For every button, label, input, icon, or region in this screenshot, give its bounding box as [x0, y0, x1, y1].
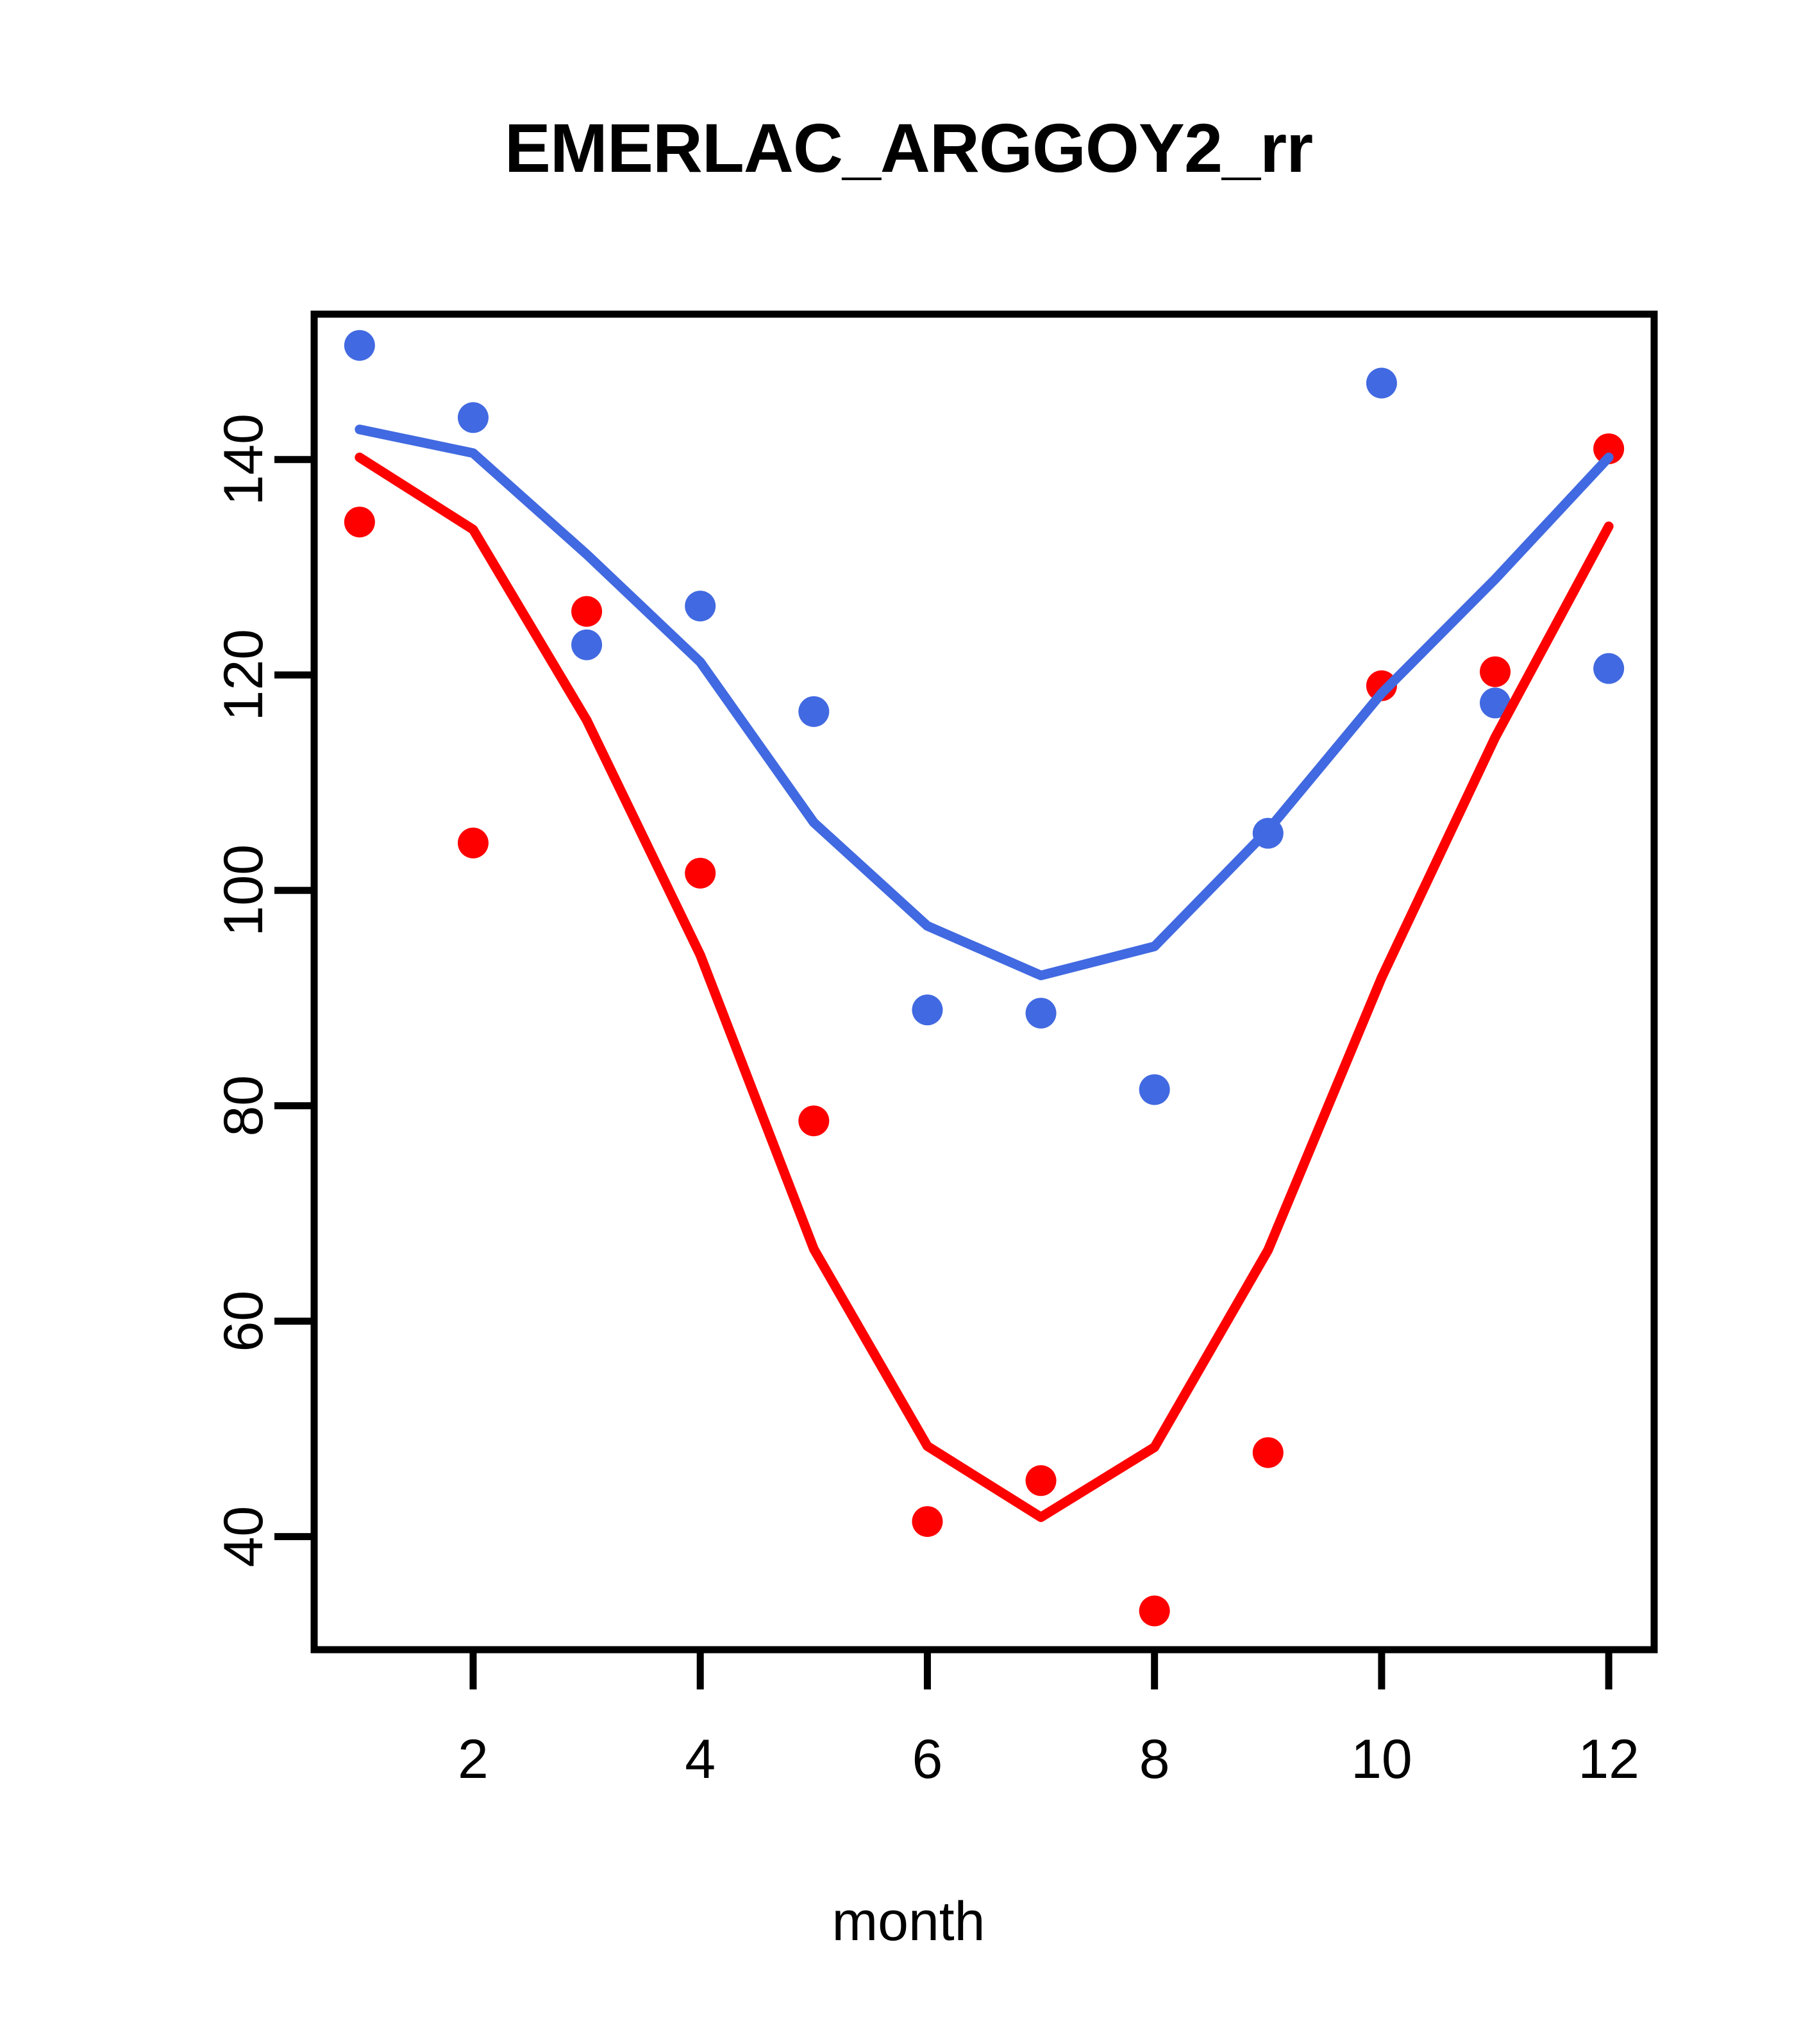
x-tick-label: 10 [1351, 1729, 1412, 1790]
data-point [1139, 1074, 1170, 1105]
data-point [1366, 368, 1397, 399]
x-tick-label: 8 [1139, 1729, 1170, 1790]
data-point [571, 596, 602, 627]
data-point [344, 330, 375, 361]
data-point [1593, 653, 1624, 684]
plot-frame [314, 314, 1654, 1650]
data-point [912, 1506, 942, 1537]
y-tick-label: 40 [213, 1506, 274, 1568]
data-point [458, 402, 489, 433]
y-tick-label: 60 [213, 1291, 274, 1352]
data-point [1026, 998, 1057, 1028]
data-point [685, 858, 716, 889]
x-tick-label: 4 [685, 1729, 716, 1790]
data-point [1139, 1596, 1170, 1627]
x-tick-label: 2 [458, 1729, 489, 1790]
data-point [458, 828, 489, 859]
data-point [912, 994, 942, 1025]
x-tick-label: 12 [1578, 1729, 1639, 1790]
data-point [344, 507, 375, 537]
x-tick-label: 6 [912, 1729, 943, 1790]
data-point [798, 696, 829, 727]
series-line-red-line [360, 457, 1609, 1517]
plot-canvas: 24681012406080100120140 [0, 0, 1817, 2044]
chart-page: EMERLAC_ARGGOY2_rr 246810124060801001201… [0, 0, 1817, 2044]
data-point [571, 630, 602, 660]
data-point [1253, 1437, 1284, 1468]
y-tick-label: 80 [213, 1075, 274, 1137]
data-point [1480, 657, 1511, 687]
y-tick-label: 120 [213, 629, 274, 721]
x-axis-label: month [0, 1890, 1817, 1954]
data-point [1026, 1465, 1057, 1496]
y-tick-label: 100 [213, 844, 274, 937]
y-tick-label: 140 [213, 414, 274, 506]
data-point [798, 1105, 829, 1136]
data-point [685, 591, 716, 621]
